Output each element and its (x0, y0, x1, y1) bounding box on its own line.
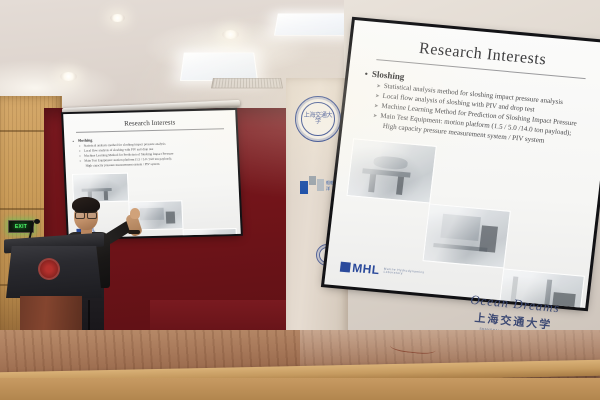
main-slide-photo-1 (347, 138, 437, 203)
main-slide-mhl-subtext: Marine Hydrodynamics Laboratory (383, 267, 434, 278)
ceiling-downlight-3 (110, 14, 125, 22)
ceiling-panel-light-1 (180, 53, 258, 81)
school-logo-mark-gray1 (309, 176, 316, 185)
presenter-eyeglasses (75, 211, 97, 217)
sjtu-seal-logo: 上海交通大学 (295, 96, 341, 142)
main-slide-mhl-logo: MHL Marine Hydrodynamics Laboratory (340, 260, 435, 282)
presenter-watch (128, 230, 140, 234)
presenter-pointing-hand (130, 208, 140, 219)
school-logo-mark-gray2 (317, 179, 324, 191)
exit-sign-label: EXIT (15, 224, 27, 230)
lecture-hall-photo: 上海交通大学 船舶海洋 EXIT Research Interests Slos… (0, 0, 600, 400)
main-projection-screen: Research Interests Sloshing Statistical … (324, 20, 600, 308)
main-slide-photo-collage (340, 138, 597, 277)
main-slide-mhl-mark (340, 262, 351, 273)
school-logo-mark-blue (300, 181, 308, 194)
sjtu-seal-text: 上海交通大学 (302, 113, 334, 125)
ceiling-downlight-2 (222, 30, 239, 39)
air-vent-grille (211, 78, 283, 88)
podium-university-emblem (38, 258, 60, 280)
left-slide-title: Research Interests (64, 117, 236, 129)
sjtu-seal-inner: 上海交通大学 (301, 102, 335, 136)
main-slide-mhl-text: MHL (351, 261, 380, 277)
podium-microphone-head (34, 219, 40, 224)
main-slide-photo-2 (423, 203, 511, 268)
ceiling-downlight-1 (60, 72, 77, 81)
stage-apron (0, 378, 600, 400)
